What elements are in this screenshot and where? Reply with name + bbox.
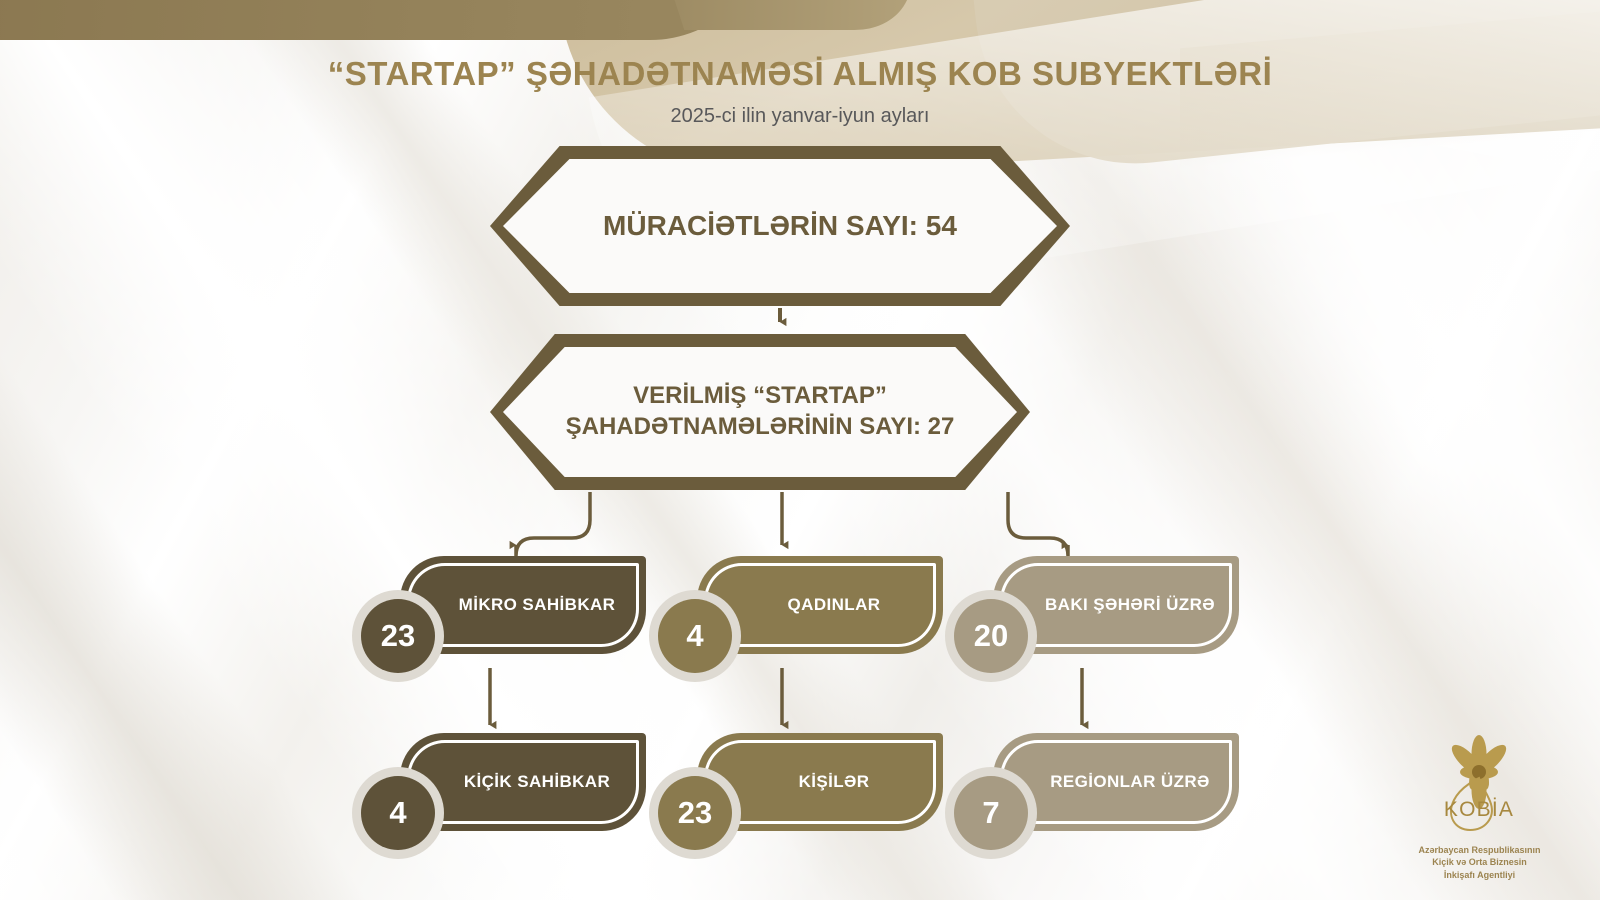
node-badge: 20: [945, 590, 1037, 682]
header-band-brown: [0, 0, 770, 40]
hexagon-applications-label: MÜRACİƏTLƏRİN SAYI: 54: [563, 208, 997, 244]
node-kisiler[interactable]: KİŞİLƏR 23: [697, 733, 943, 831]
flower-center: [1472, 765, 1486, 779]
node-label: KİÇİK SAHİBKAR: [418, 772, 628, 792]
node-badge-value: 4: [658, 599, 732, 673]
node-regionlar-uzre[interactable]: REGİONLAR ÜZRƏ 7: [993, 733, 1239, 831]
hexagon-certificates: VERİLMİŞ “STARTAP” ŞAHADƏTNAMƏLƏRİNİN SA…: [490, 334, 1030, 490]
hexagon-certificates-inner: VERİLMİŞ “STARTAP” ŞAHADƏTNAMƏLƏRİNİN SA…: [503, 347, 1017, 477]
page-title: “STARTAP” ŞƏHADƏTNAMƏSİ ALMIŞ KOB SUBYEK…: [0, 55, 1600, 93]
node-badge: 23: [649, 767, 741, 859]
node-badge: 23: [352, 590, 444, 682]
node-badge: 4: [352, 767, 444, 859]
node-badge-value: 20: [954, 599, 1028, 673]
hexagon-applications-inner: MÜRACİƏTLƏRİN SAYI: 54: [503, 159, 1057, 293]
node-label: MİKRO SAHİBKAR: [413, 595, 634, 615]
hexagon-certificates-label: VERİLMİŞ “STARTAP” ŞAHADƏTNAMƏLƏRİNİN SA…: [526, 381, 995, 442]
kobia-caption-line-2: Kiçik və Orta Biznesin: [1387, 856, 1572, 869]
node-label: KİŞİLƏR: [753, 772, 888, 792]
node-badge: 7: [945, 767, 1037, 859]
hexagon-certificates-line1: VERİLMİŞ “STARTAP”: [566, 381, 955, 412]
hexagon-certificates-line2: ŞAHADƏTNAMƏLƏRİNİN SAYI: 27: [566, 412, 955, 443]
node-badge-value: 4: [361, 776, 435, 850]
node-badge: 4: [649, 590, 741, 682]
kobia-logo-caption: Azərbaycan Respublikasının Kiçik və Orta…: [1387, 844, 1572, 882]
header: “STARTAP” ŞƏHADƏTNAMƏSİ ALMIŞ KOB SUBYEK…: [0, 55, 1600, 128]
node-mikro-sahibkar[interactable]: MİKRO SAHİBKAR 23: [400, 556, 646, 654]
hexagon-applications: MÜRACİƏTLƏRİN SAYI: 54: [490, 146, 1070, 306]
node-qadinlar[interactable]: QADINLAR 4: [697, 556, 943, 654]
kobia-caption-line-1: Azərbaycan Respublikasının: [1387, 844, 1572, 857]
node-label: QADINLAR: [742, 595, 899, 615]
kobia-wordmark: KOBİA: [1444, 798, 1514, 821]
node-badge-value: 23: [361, 599, 435, 673]
kobia-logo-mark: KOBİA: [1387, 734, 1572, 842]
kobia-logo: KOBİA Azərbaycan Respublikasının Kiçik v…: [1387, 734, 1572, 882]
node-kicik-sahibkar[interactable]: KİÇİK SAHİBKAR 4: [400, 733, 646, 831]
node-label: BAKI ŞƏHƏRİ ÜZRƏ: [999, 595, 1233, 615]
node-badge-value: 7: [954, 776, 1028, 850]
kobia-caption-line-3: İnkişafı Agentliyi: [1387, 869, 1572, 882]
node-baki-sehri-uzre[interactable]: BAKI ŞƏHƏRİ ÜZRƏ 20: [993, 556, 1239, 654]
page-subtitle: 2025-ci ilin yanvar-iyun ayları: [0, 105, 1600, 128]
slide-canvas: “STARTAP” ŞƏHADƏTNAMƏSİ ALMIŞ KOB SUBYEK…: [0, 0, 1600, 900]
node-label: REGİONLAR ÜZRƏ: [1004, 772, 1228, 792]
node-badge-value: 23: [658, 776, 732, 850]
